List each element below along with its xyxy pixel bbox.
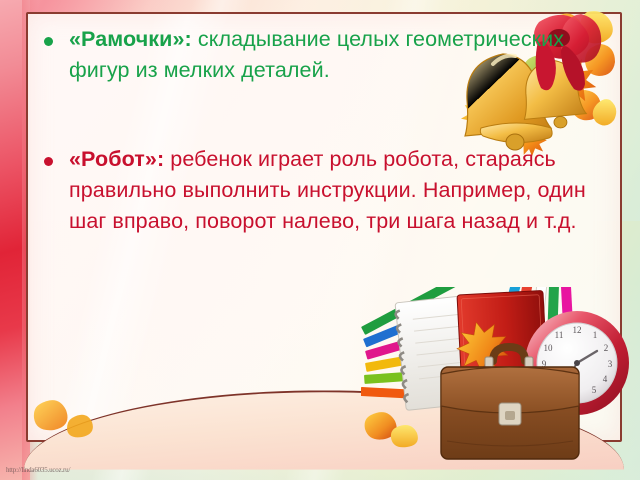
panel-bottom-curve <box>24 390 624 469</box>
bullet-item-robot: «Робот»: ребенок играет роль робота, ста… <box>44 144 610 237</box>
term-robot: «Робот»: <box>69 147 164 171</box>
bullet-marker-icon <box>44 157 53 166</box>
term-ramochki: «Рамочки»: <box>69 27 192 51</box>
paragraph-robot: «Робот»: ребенок играет роль робота, ста… <box>69 144 610 237</box>
source-watermark: http://linda6035.ucoz.ru/ <box>6 466 70 474</box>
paragraph-ramochki: «Рамочки»: складывание целых геометричес… <box>69 24 610 86</box>
presentation-slide: 121 23 45 67 89 1011 <box>0 0 640 480</box>
bullet-item-ramochki: «Рамочки»: складывание целых геометричес… <box>44 24 610 86</box>
slide-text-content: «Рамочки»: складывание целых геометричес… <box>44 24 610 237</box>
bullet-marker-icon <box>44 37 53 46</box>
